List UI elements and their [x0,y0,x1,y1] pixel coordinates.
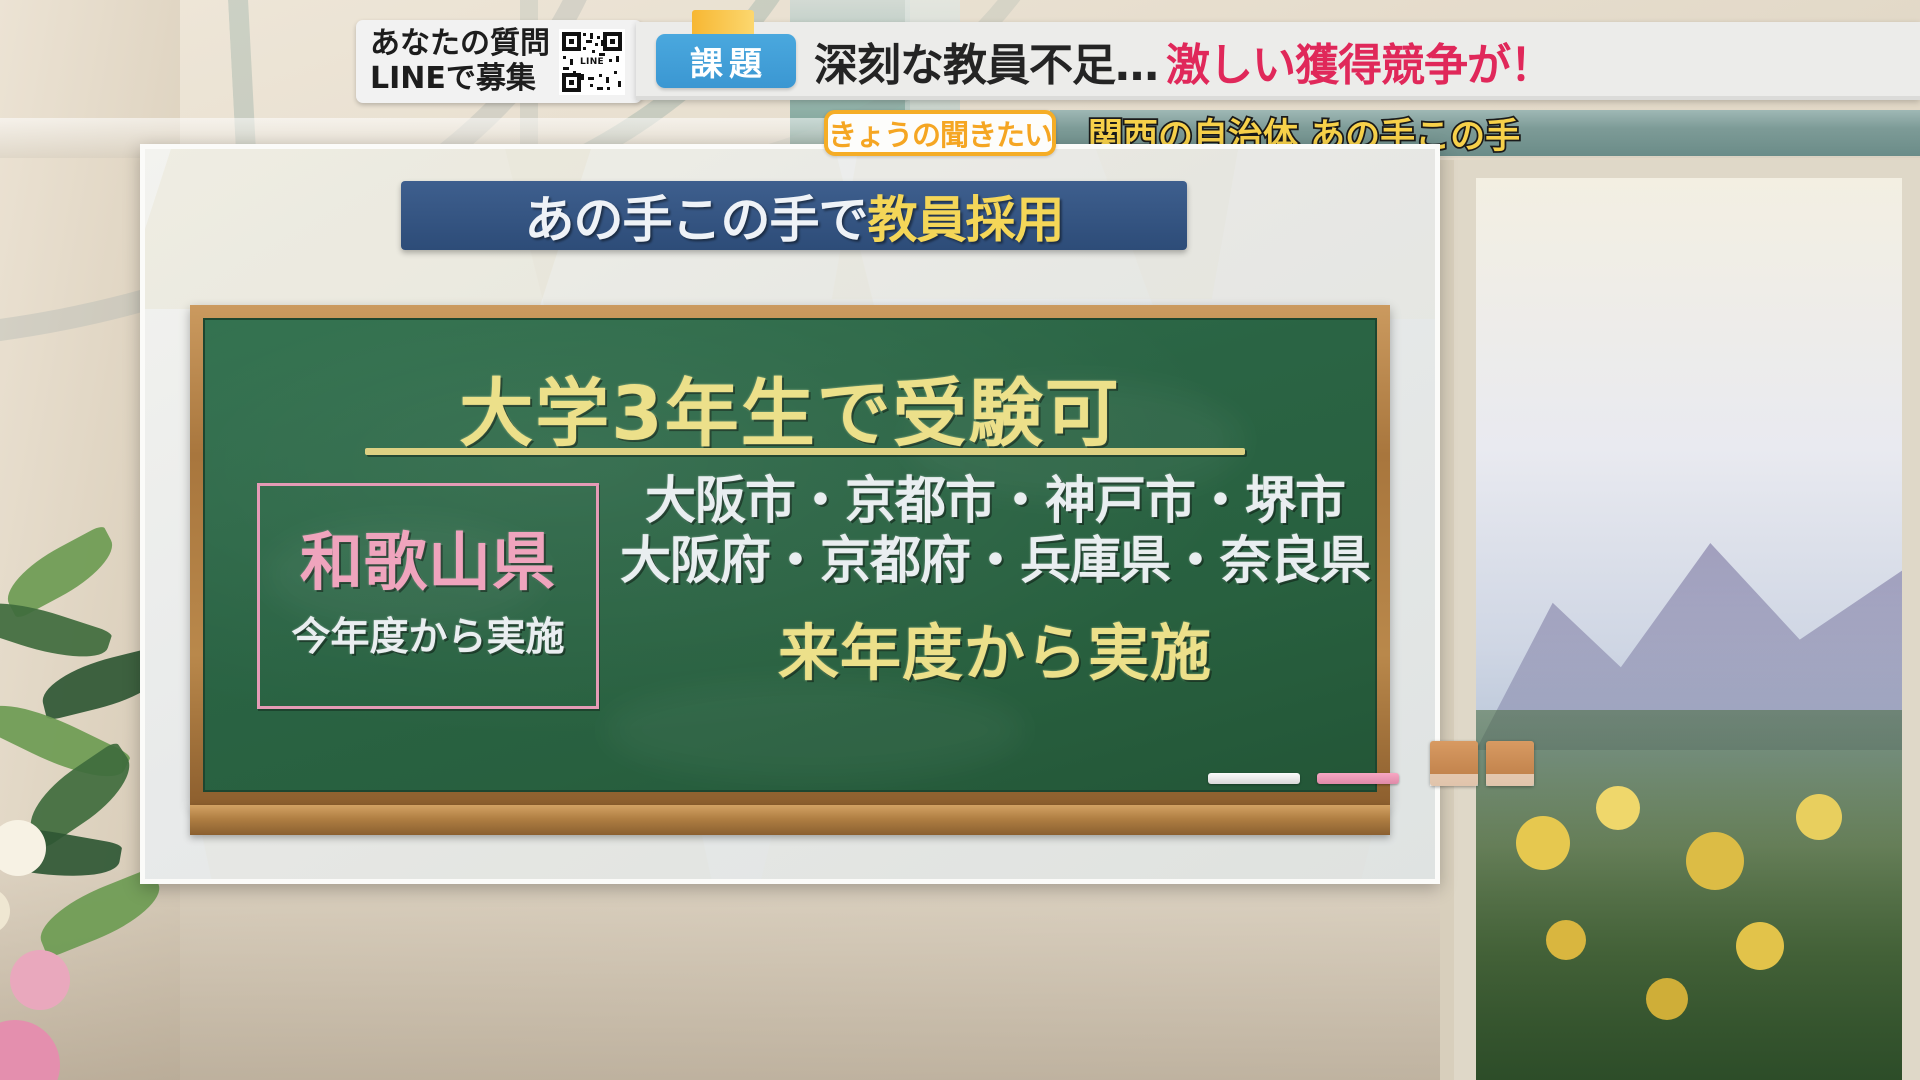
blackboard-eraser-left-icon [1430,741,1478,786]
chalkboard-heading-underline [365,448,1245,455]
viewer-prompt-line1: あなたの質問 [370,27,550,62]
region-line-cities: 大阪市・京都市・神戸市・堺市 [605,472,1377,532]
viewer-prompt-text: あなたの質問 LINEで募集 [370,27,550,97]
region-list: 大阪市・京都市・神戸市・堺市 大阪府・京都府・兵庫県・奈良県 来年度から実施 [605,472,1377,692]
qr-eye-bottom-left [562,73,581,92]
viewer-prompt-line2: LINEで募集 [370,62,550,97]
headline-accent-text: 激しい獲得競争が！ [1166,29,1553,93]
wakayama-start-note: 今年度から実施 [260,606,596,662]
chalkboard-surface: 大学3年生で受験可 和歌山県 今年度から実施 大阪市・京都市・神戸市・堺市 大阪… [203,318,1377,792]
blackboard-frame: 大学3年生で受験可 和歌山県 今年度から実施 大阪市・京都市・神戸市・堺市 大阪… [190,305,1390,805]
studio-art-panel [1440,160,1920,1080]
chalk-tray [190,805,1390,835]
blackboard-panel: あの手この手で 教員採用 大学3年生で受験可 和歌山県 今年度から実施 大阪市・… [140,144,1440,884]
board-title-plain: あの手この手で [525,180,868,252]
qr-code-label: LINE [577,56,607,68]
region-start-note: 来年度から実施 [605,603,1377,692]
board-title-highlight: 教員採用 [868,180,1064,252]
viewer-question-prompt: あなたの質問 LINEで募集 LINE [356,20,642,103]
subtopic-badge: きょうの聞きたい [824,110,1056,156]
qr-code-icon[interactable]: LINE [559,29,625,95]
headline-tab-clip [692,10,754,34]
white-chalk-icon [1208,773,1300,784]
wakayama-prefecture-name: 和歌山県 [260,512,596,603]
qr-eye-top-right [603,32,622,51]
board-title-bar: あの手この手で 教員採用 [401,181,1187,250]
headline-bar: 課題 深刻な教員不足… 激しい獲得競争が！ [636,22,1920,100]
region-line-prefectures: 大阪府・京都府・兵庫県・奈良県 [605,532,1377,592]
chalkboard-heading: 大学3年生で受験可 [205,354,1375,461]
qr-eye-top-left [562,32,581,51]
blackboard-eraser-right-icon [1486,741,1534,786]
wakayama-callout-box: 和歌山県 今年度から実施 [257,483,599,709]
headline-main-text: 深刻な教員不足… [814,29,1158,93]
pink-chalk-icon [1317,773,1399,784]
headline-category-badge: 課題 [656,34,796,88]
